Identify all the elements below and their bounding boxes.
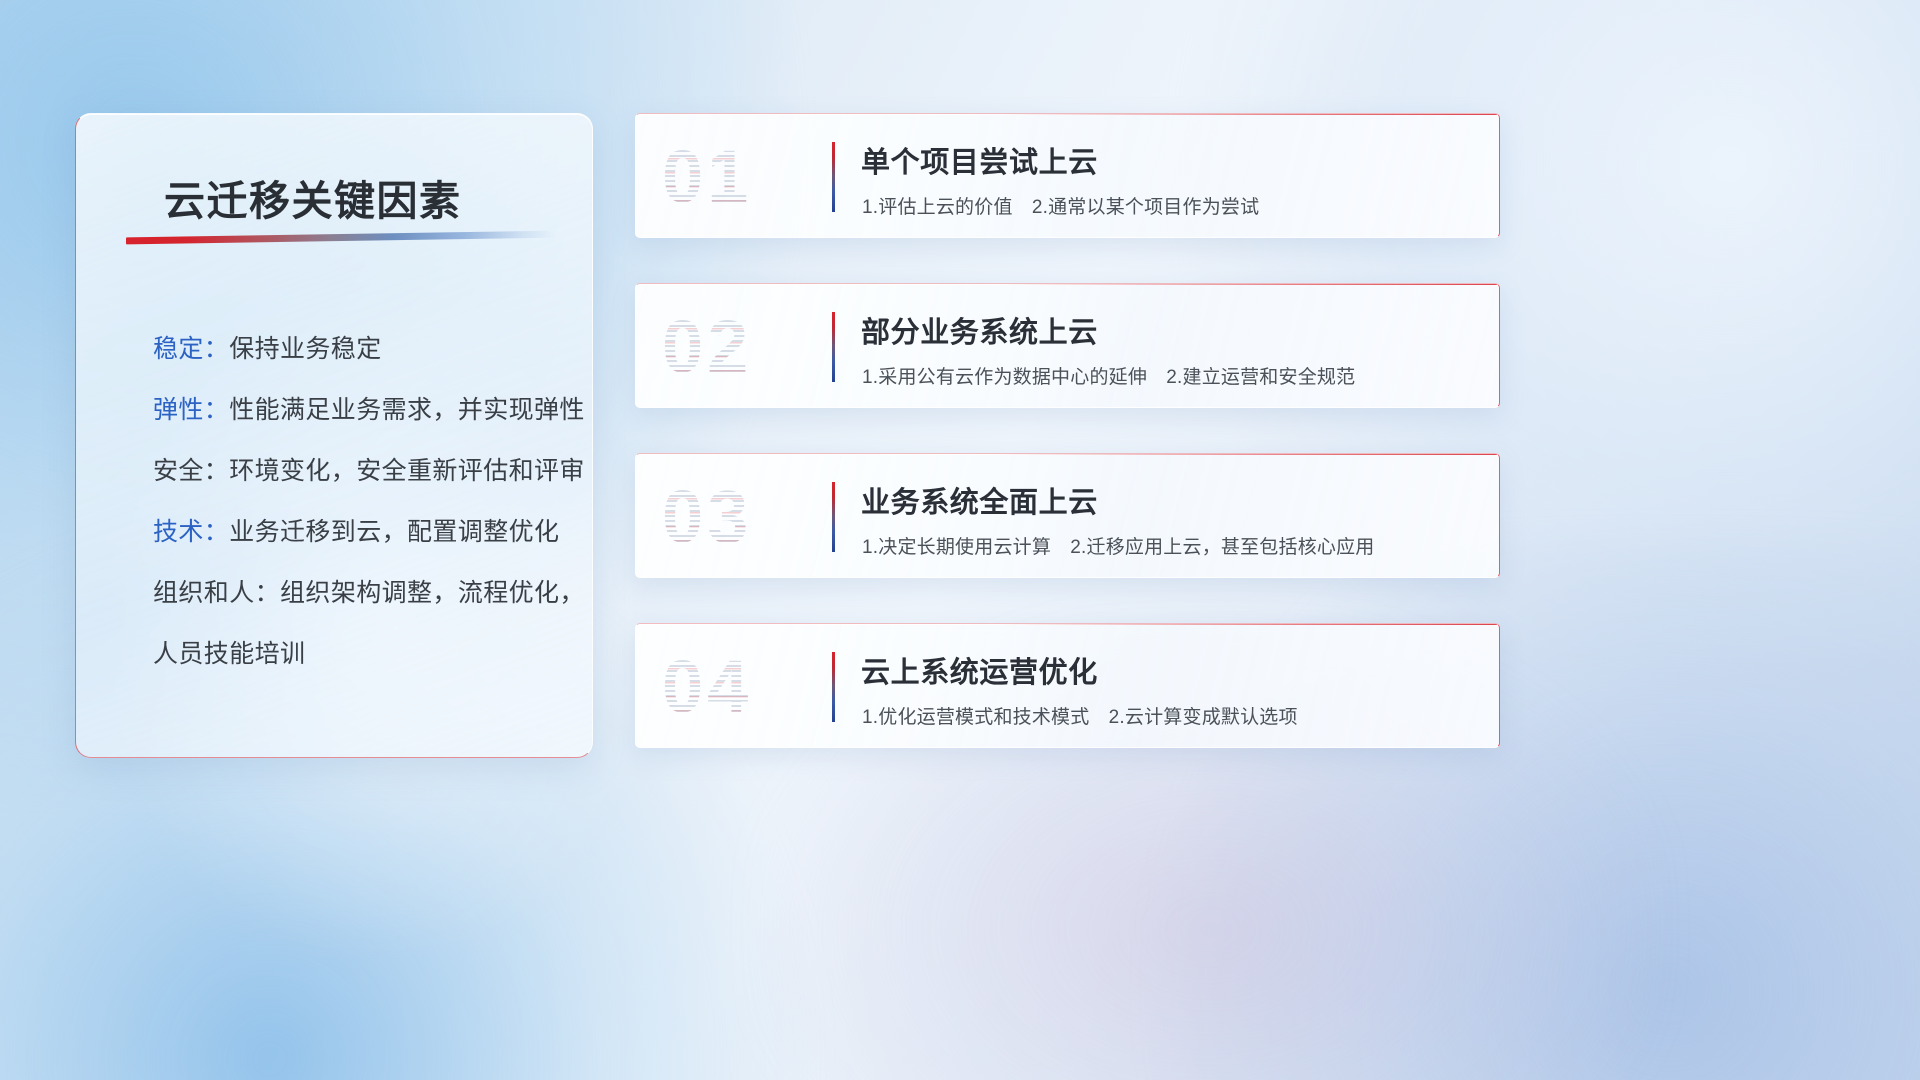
key-factor-text: 性能满足业务需求，并实现弹性 [229,396,585,424]
migration-stage-card-list: 0101单个项目尝试上云1.评估上云的价值 2.通常以某个项目作为尝试0202部… [635,113,1500,748]
stage-number-ghost-red-overlay: 04 [662,640,752,734]
key-factor-item: 组织和人：组织架构调整，流程优化， [153,563,566,624]
card-accent-divider [832,312,835,382]
key-factor-item: 人员技能培训 [153,624,566,685]
card-description: 1.决定长期使用云计算 2.迁移应用上云，甚至包括核心应用 [862,532,1375,559]
page-title: 云迁移关键因素 [164,167,462,227]
migration-stage-card[interactable]: 0101单个项目尝试上云1.评估上云的价值 2.通常以某个项目作为尝试 [635,113,1500,238]
card-description: 1.优化运营模式和技术模式 2.云计算变成默认选项 [862,702,1298,729]
slide-stage: 云迁移关键因素 稳定：保持业务稳定弹性：性能满足业务需求，并实现弹性安全：环境变… [0,0,1920,1080]
card-accent-divider [832,482,835,552]
title-underline-gradient [126,231,556,245]
card-description: 1.评估上云的价值 2.通常以某个项目作为尝试 [862,192,1259,219]
key-factor-text: 环境变化，安全重新评估和评审 [229,457,585,485]
key-factor-label: 弹性： [153,396,229,424]
key-factor-label: 组织和人： [153,579,280,607]
key-factor-text: 组织架构调整，流程优化， [280,579,585,607]
key-factor-text: 业务迁移到云，配置调整优化 [229,518,559,546]
key-factors-panel: 云迁移关键因素 稳定：保持业务稳定弹性：性能满足业务需求，并实现弹性安全：环境变… [75,113,593,758]
card-accent-divider [832,142,835,212]
stage-number-ghost-red-overlay: 02 [662,300,752,394]
migration-stage-card[interactable]: 0202部分业务系统上云1.采用公有云作为数据中心的延伸 2.建立运营和安全规范 [635,283,1500,408]
key-factors-list: 稳定：保持业务稳定弹性：性能满足业务需求，并实现弹性安全：环境变化，安全重新评估… [153,319,566,685]
key-factor-item: 弹性：性能满足业务需求，并实现弹性 [153,380,566,441]
card-accent-divider [832,652,835,722]
migration-stage-card[interactable]: 0303业务系统全面上云1.决定长期使用云计算 2.迁移应用上云，甚至包括核心应… [635,453,1500,578]
card-title: 业务系统全面上云 [861,479,1098,521]
key-factor-item: 安全：环境变化，安全重新评估和评审 [153,441,566,502]
key-factor-item: 技术：业务迁移到云，配置调整优化 [153,502,566,563]
stage-number-ghost-red-overlay: 01 [662,130,752,224]
key-factor-label: 技术： [153,518,229,546]
key-factor-item: 稳定：保持业务稳定 [153,319,566,380]
key-factor-label: 安全： [153,457,229,485]
card-description: 1.采用公有云作为数据中心的延伸 2.建立运营和安全规范 [862,362,1355,389]
card-title: 部分业务系统上云 [861,309,1098,351]
migration-stage-card[interactable]: 0404云上系统运营优化1.优化运营模式和技术模式 2.云计算变成默认选项 [635,623,1500,748]
key-factor-text: 人员技能培训 [153,640,305,668]
card-title: 云上系统运营优化 [861,649,1098,691]
key-factor-label: 稳定： [153,335,229,363]
card-title: 单个项目尝试上云 [861,139,1098,181]
key-factor-text: 保持业务稳定 [229,335,381,363]
stage-number-ghost-red-overlay: 03 [662,470,752,564]
